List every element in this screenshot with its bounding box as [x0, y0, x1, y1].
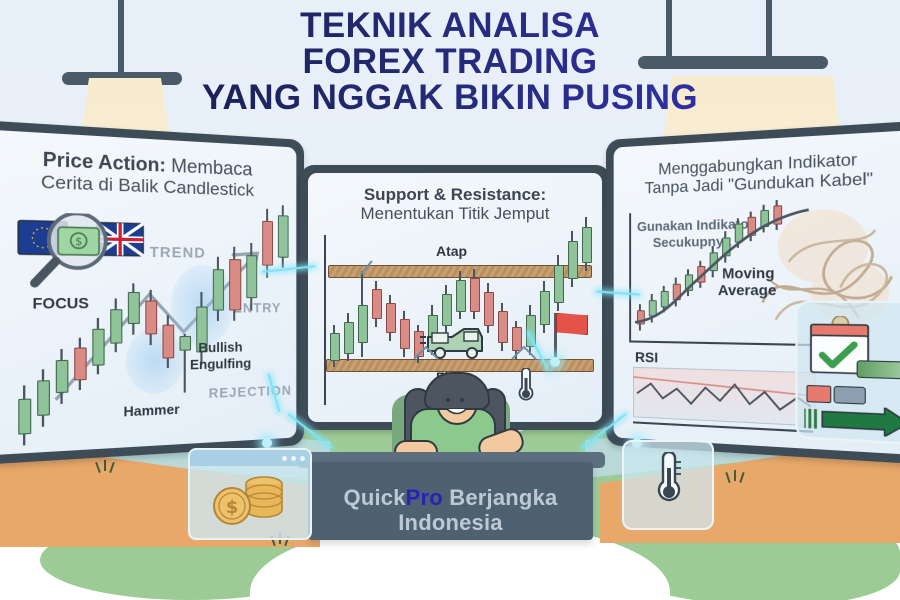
label-bullish-engulfing-1: Bullish	[198, 339, 242, 355]
label-rsi: RSI	[635, 349, 658, 366]
headline-line-2: FOREX TRADING	[0, 44, 900, 80]
candle	[56, 349, 66, 404]
checklist-card[interactable]	[795, 301, 900, 446]
flag-node	[550, 357, 560, 367]
card-chip-red	[806, 385, 831, 403]
window-dot	[282, 456, 287, 461]
screen-price-action: Price Action: Membaca Cerita di Balik Ca…	[0, 130, 296, 456]
thermometer-small-icon	[514, 368, 536, 402]
label-bullish-engulfing-2: Engulfing	[190, 355, 251, 372]
rsi-line	[633, 367, 813, 424]
target-flag-icon	[556, 313, 588, 335]
monitor-indicators[interactable]: Menggabungkan Indikator Tanpa Jadi "Gund…	[606, 121, 900, 465]
candle	[74, 338, 84, 391]
candle	[262, 209, 271, 278]
thermometer-icon	[650, 452, 684, 504]
candle	[162, 315, 172, 368]
brand-indonesia: Indonesia	[398, 510, 503, 535]
label-moving-average-1: Moving	[722, 264, 774, 281]
grass-blade-icon	[104, 460, 106, 471]
panel-title-strong: Support & Resistance:	[364, 185, 546, 204]
brand-quick: Quick	[344, 485, 406, 510]
panel-title-indicators: Menggabungkan Indikator Tanpa Jadi "Gund…	[614, 148, 900, 199]
candle	[145, 290, 155, 345]
card-bar-green	[857, 360, 900, 379]
candle	[128, 283, 138, 334]
brand-berjangka: Berjangka	[443, 485, 558, 510]
window-dot	[300, 456, 305, 461]
window-dot	[291, 456, 296, 461]
label-hammer: Hammer	[123, 401, 179, 419]
monitor-price-action[interactable]: Price Action: Membaca Cerita di Balik Ca…	[0, 120, 304, 465]
card-chip-blue	[834, 386, 866, 405]
candle	[18, 385, 29, 446]
glow-node	[262, 438, 272, 448]
coins-icon: $	[208, 470, 294, 532]
candle-bullish-engulfing	[229, 247, 239, 321]
brand-pro: Pro	[406, 485, 443, 510]
coins-browser-card[interactable]: $	[188, 448, 312, 540]
candle	[278, 205, 287, 268]
headline-line-3: YANG NGGAK BIKIN PUSING	[0, 80, 900, 116]
candle	[37, 369, 48, 427]
headline-line-1: TEKNIK ANALISA	[0, 8, 900, 44]
person-face-icon	[434, 390, 480, 420]
screen-indicators: Menggabungkan Indikator Tanpa Jadi "Gund…	[614, 130, 900, 454]
infographic-canvas: TEKNIK ANALISA FOREX TRADING YANG NGGAK …	[0, 0, 900, 600]
grass-blade-icon	[734, 470, 736, 481]
candle	[92, 318, 102, 375]
candle-hammer	[179, 334, 188, 393]
svg-text:$: $	[226, 497, 239, 518]
label-trend: TREND	[150, 243, 206, 261]
label-moving-average-2: Average	[718, 281, 776, 298]
candle	[110, 298, 120, 352]
green-arrow-icon	[804, 404, 900, 438]
panel-title-price-action: Price Action: Membaca Cerita di Balik Ca…	[0, 145, 296, 202]
brand-lockup: QuickPro Berjangka Indonesia	[308, 485, 593, 535]
page-title: TEKNIK ANALISA FOREX TRADING YANG NGGAK …	[0, 8, 900, 116]
candle	[246, 243, 255, 311]
panel-title-rest: Membaca	[166, 155, 253, 180]
candle	[213, 257, 222, 321]
